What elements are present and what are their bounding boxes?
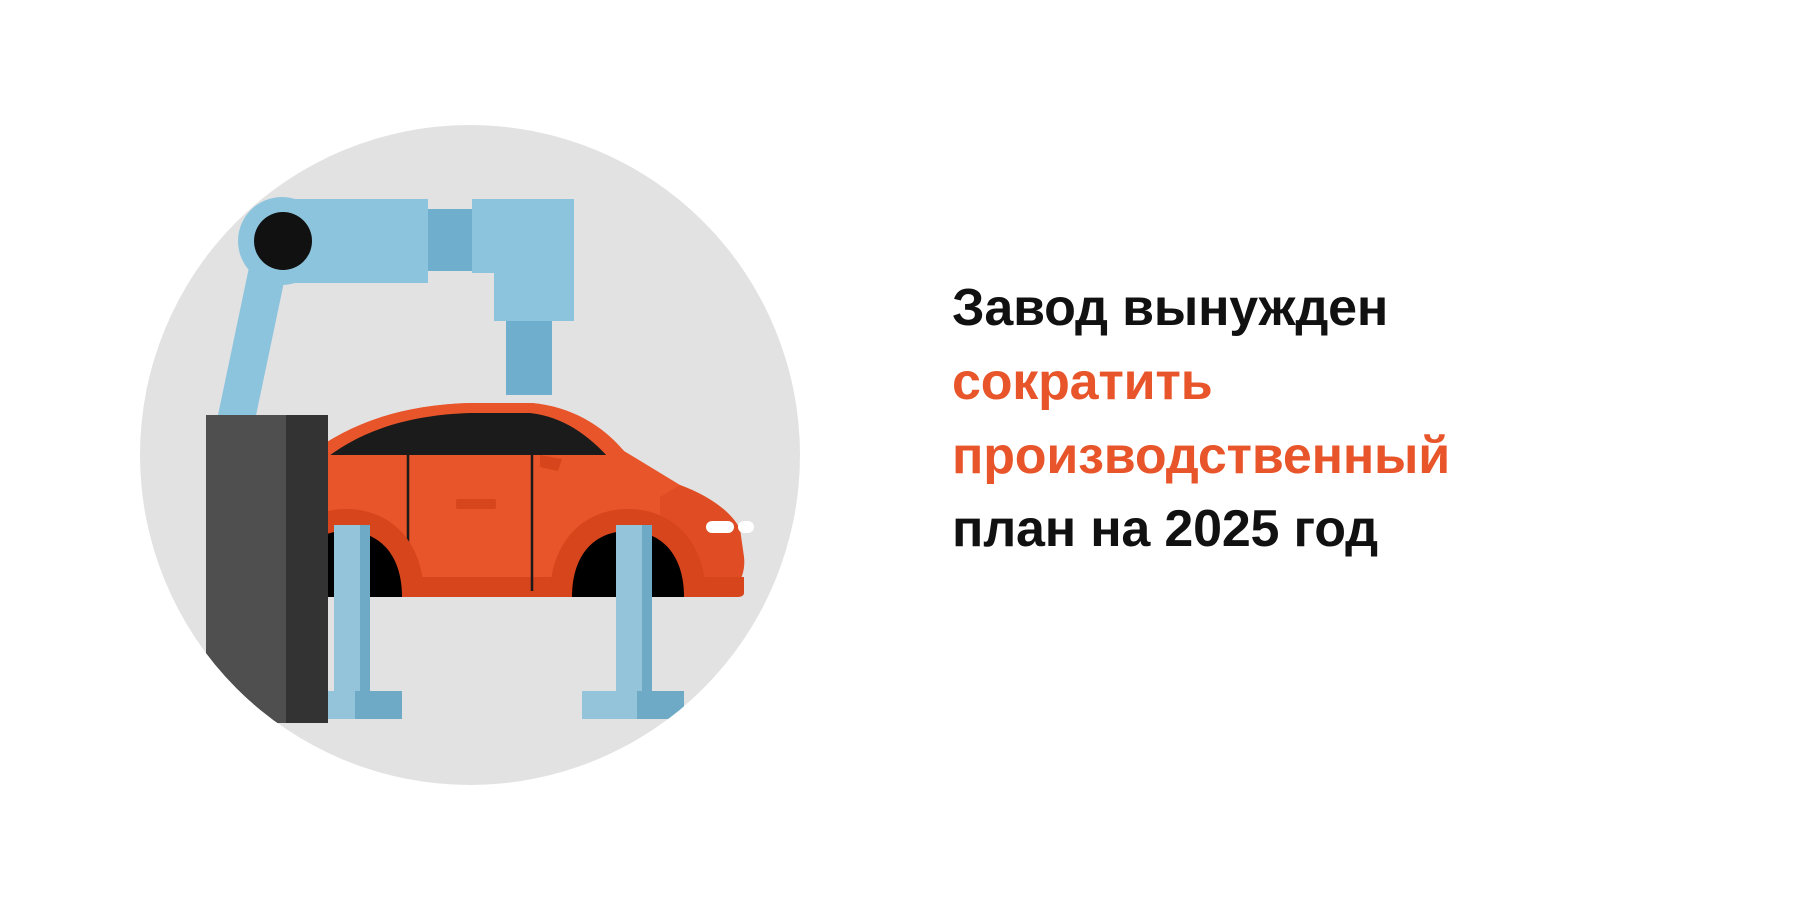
robot-forearm-block	[472, 199, 574, 273]
lift-pillar-front-layer	[206, 415, 328, 723]
front-base-overlay-shade	[637, 691, 684, 719]
illustration-container	[140, 125, 800, 785]
rear-post-overlay-shade	[360, 525, 370, 705]
headline-block: Завод вынужден сократить производственны…	[952, 272, 1672, 567]
rear-post-overlay	[334, 525, 360, 705]
robot-wrist-block	[494, 273, 574, 321]
robot-tool-shaft	[506, 321, 552, 395]
headline-line-2: сократить	[952, 346, 1672, 420]
rear-base-overlay-shade	[355, 691, 402, 719]
front-post-overlay-shade	[642, 525, 652, 705]
headline-line-3: производственный	[952, 420, 1672, 494]
headlight-main	[706, 521, 734, 533]
promo-card: Завод вынужден сократить производственны…	[0, 0, 1800, 900]
headlight-secondary	[738, 521, 754, 533]
pillar-side-face-top	[286, 415, 328, 723]
headline-line-1: Завод вынужден	[952, 272, 1672, 346]
door-handle	[456, 499, 496, 509]
factory-scene-illustration	[140, 125, 800, 785]
pillar-front-face-top	[206, 415, 286, 723]
robot-arm-icon	[218, 197, 574, 425]
robot-elbow-connector	[428, 209, 472, 271]
headline-line-4: план на 2025 год	[952, 493, 1672, 567]
front-post-overlay	[616, 525, 642, 705]
robot-joint-hub-icon	[254, 212, 312, 270]
